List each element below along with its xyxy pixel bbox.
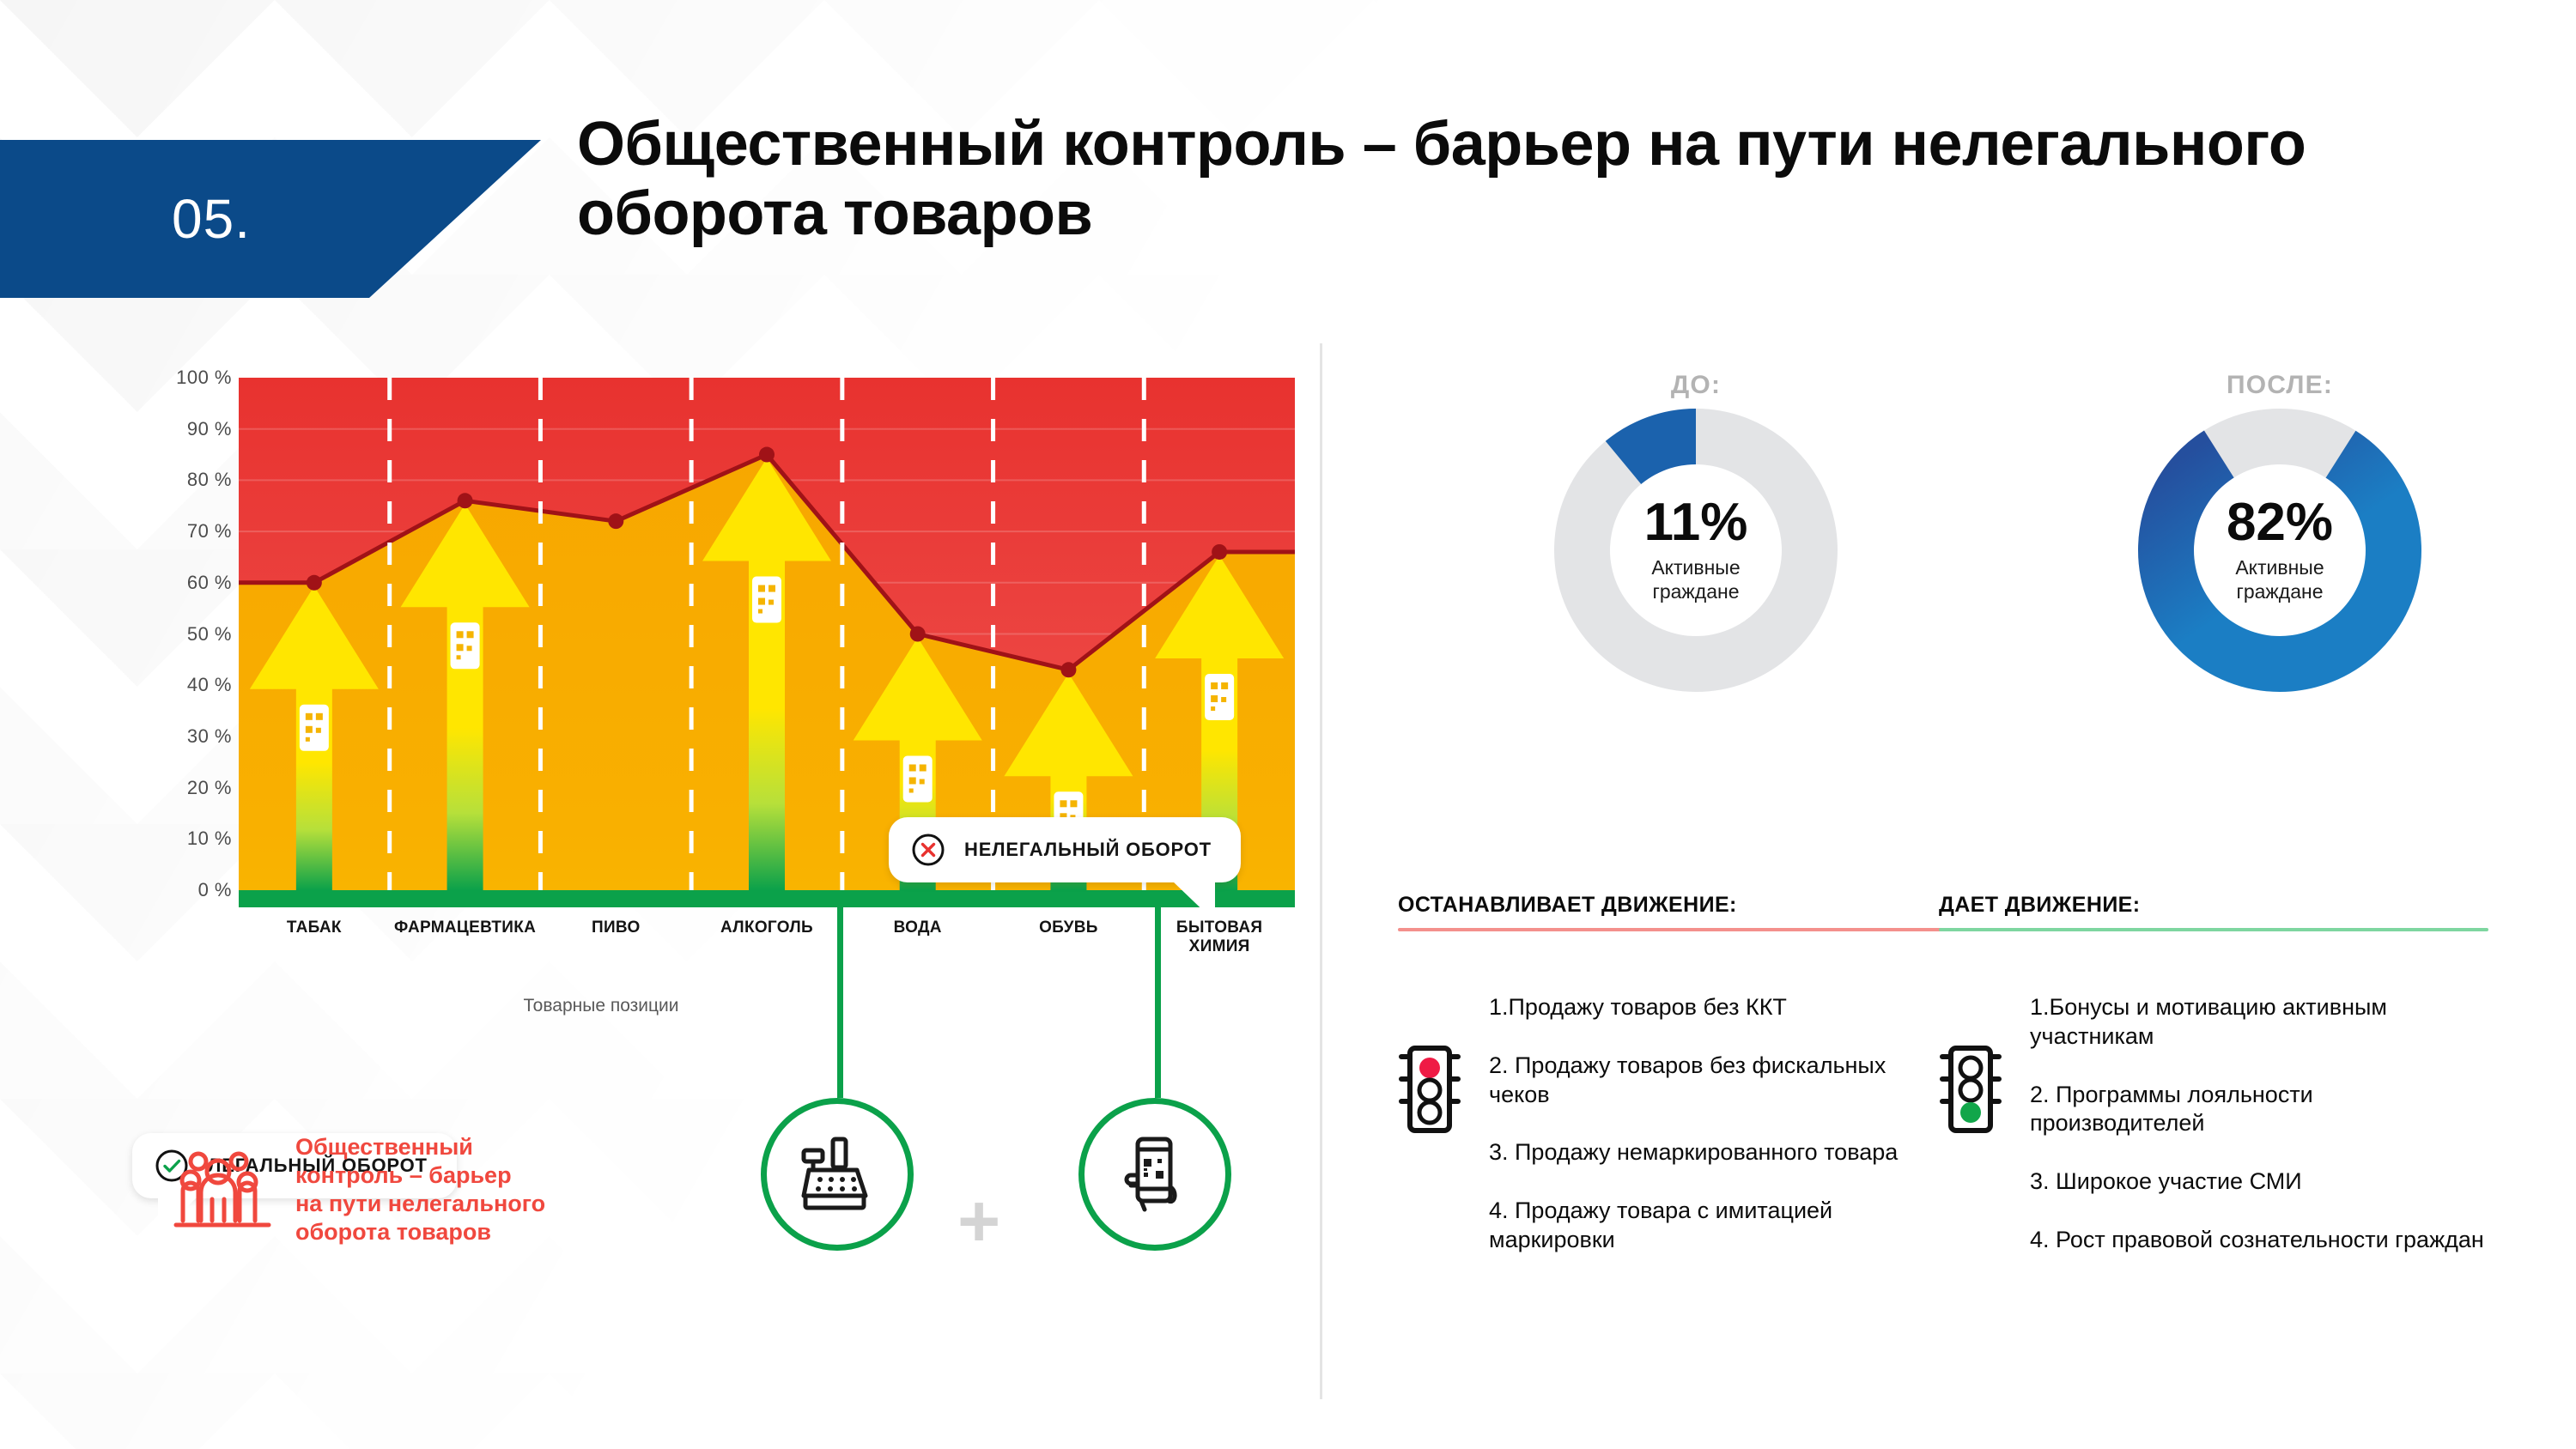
data-point bbox=[1212, 544, 1227, 560]
data-point bbox=[910, 627, 926, 642]
data-point bbox=[458, 493, 473, 508]
cash-register-circle bbox=[761, 1098, 914, 1251]
traffic-light-red-icon bbox=[1398, 1045, 1463, 1134]
donut-before-title: ДО: bbox=[1494, 371, 1898, 400]
datamatrix-tag-icon bbox=[903, 756, 933, 803]
list-gives-heading: ДАЕТ ДВИЖЕНИЕ: bbox=[1939, 893, 2488, 918]
donut-before-caption: Активные граждане bbox=[1651, 556, 1740, 603]
donut-before-percent: 11% bbox=[1644, 496, 1748, 549]
donut-before: ДО: 11% Активные граждане bbox=[1494, 371, 1898, 692]
list-item: 4. Продажу товара с имитацией маркировки bbox=[1489, 1197, 1947, 1255]
x-axis-label: ОБУВЬ bbox=[998, 919, 1140, 937]
data-point bbox=[759, 447, 775, 463]
logo-line-4: оборота товаров bbox=[295, 1218, 545, 1246]
y-axis-tick: 90 % bbox=[146, 418, 232, 440]
list-item: 1.Бонусы и мотивацию активным участникам bbox=[2030, 993, 2488, 1052]
list-gives-items: 1.Бонусы и мотивацию активным участникам… bbox=[2030, 971, 2488, 1255]
logo-line-2: контроль – барьер bbox=[295, 1161, 545, 1190]
y-axis-tick: 20 % bbox=[146, 777, 232, 799]
donut-after-center: 82% Активные граждане bbox=[2194, 464, 2366, 636]
donut-after: ПОСЛЕ: 82% Активные граждане bbox=[2078, 371, 2482, 692]
section-number: 05. bbox=[172, 187, 251, 251]
page-title: Общественный контроль – барьер на пути н… bbox=[577, 110, 2449, 250]
chart-svg bbox=[239, 378, 1295, 890]
turnover-chart: 0 %10 %20 %30 %40 %50 %60 %70 %80 %90 %1… bbox=[0, 378, 1314, 996]
x-axis bbox=[239, 890, 1295, 907]
data-point bbox=[307, 575, 322, 591]
connector-line-right bbox=[1155, 907, 1161, 1098]
datamatrix-tag-icon bbox=[1205, 674, 1234, 720]
x-axis-label: ФАРМАЦЕВТИКА bbox=[394, 919, 537, 937]
y-axis-tick: 80 % bbox=[146, 469, 232, 491]
x-axis-label: АЛКОГОЛЬ bbox=[696, 919, 838, 937]
x-axis-label: БЫТОВАЯ ХИМИЯ bbox=[1148, 919, 1291, 956]
donut-after-caption: Активные граждане bbox=[2235, 556, 2324, 603]
data-point bbox=[1060, 662, 1076, 677]
y-axis-tick: 10 % bbox=[146, 828, 232, 850]
x-axis-label: ПИВО bbox=[544, 919, 687, 937]
y-axis-tick: 50 % bbox=[146, 623, 232, 646]
list-item: 4. Рост правовой сознательности граждан bbox=[2030, 1226, 2488, 1255]
list-gives-movement: ДАЕТ ДВИЖЕНИЕ: 1.Бонусы и мотивацию акти… bbox=[1939, 893, 2488, 1255]
legend-illegal-label: НЕЛЕГАЛЬНЫЙ ОБОРОТ bbox=[964, 839, 1212, 861]
traffic-light-green-icon bbox=[1939, 1045, 2004, 1134]
y-axis-tick: 100 % bbox=[146, 367, 232, 389]
cross-circle-icon bbox=[911, 833, 945, 867]
list-item: 2. Продажу товаров без фискальных чеков bbox=[1489, 1052, 1947, 1110]
donut-after-percent: 82% bbox=[2227, 496, 2333, 549]
list-stops-movement: ОСТАНАВЛИВАЕТ ДВИЖЕНИЕ: 1.Продажу товаро… bbox=[1398, 893, 1947, 1255]
donut-after-title: ПОСЛЕ: bbox=[2078, 371, 2482, 400]
list-stops-rule bbox=[1398, 928, 1947, 931]
vertical-divider bbox=[1320, 343, 1322, 1399]
x-axis-title: Товарные позиции bbox=[523, 996, 678, 1016]
legend-illegal-turnover: НЕЛЕГАЛЬНЫЙ ОБОРОТ bbox=[889, 817, 1241, 882]
list-item: 1.Продажу товаров без ККТ bbox=[1489, 993, 1947, 1022]
datamatrix-tag-icon bbox=[752, 577, 781, 623]
list-item: 3. Продажу немаркированного товара bbox=[1489, 1138, 1947, 1167]
donut-after-ring: 82% Активные граждане bbox=[2138, 409, 2421, 692]
y-axis: 0 %10 %20 %30 %40 %50 %60 %70 %80 %90 %1… bbox=[146, 378, 232, 919]
list-stops-heading: ОСТАНАВЛИВАЕТ ДВИЖЕНИЕ: bbox=[1398, 893, 1947, 918]
y-axis-tick: 40 % bbox=[146, 674, 232, 696]
plus-icon: + bbox=[957, 1185, 1000, 1258]
phone-scan-icon bbox=[1115, 1132, 1194, 1216]
x-axis-label: ВОДА bbox=[847, 919, 989, 937]
phone-scan-circle bbox=[1078, 1098, 1231, 1251]
donut-before-caption-1: Активные bbox=[1651, 556, 1740, 580]
x-axis-label: ТАБАК bbox=[243, 919, 386, 937]
donut-before-center: 11% Активные граждане bbox=[1610, 464, 1782, 636]
list-item: 2. Программы лояльности производителей bbox=[2030, 1081, 2488, 1139]
list-item: 3. Широкое участие СМИ bbox=[2030, 1167, 2488, 1197]
campaign-logo: Общественный контроль – барьер на пути н… bbox=[172, 1133, 545, 1246]
list-gives-rule bbox=[1939, 928, 2488, 931]
donut-after-caption-1: Активные bbox=[2235, 556, 2324, 580]
logo-line-1: Общественный bbox=[295, 1133, 545, 1161]
data-point bbox=[608, 513, 623, 529]
donut-after-caption-2: граждане bbox=[2235, 580, 2324, 604]
y-axis-tick: 0 % bbox=[146, 879, 232, 901]
logo-line-3: на пути нелегального bbox=[295, 1190, 545, 1218]
plot-area bbox=[239, 378, 1295, 890]
list-stops-items: 1.Продажу товаров без ККТ2. Продажу това… bbox=[1489, 971, 1947, 1255]
campaign-logo-text: Общественный контроль – барьер на пути н… bbox=[295, 1133, 545, 1246]
donut-before-ring: 11% Активные граждане bbox=[1554, 409, 1838, 692]
datamatrix-tag-icon bbox=[451, 622, 480, 669]
y-axis-tick: 60 % bbox=[146, 572, 232, 594]
cash-register-icon bbox=[795, 1132, 879, 1216]
datamatrix-tag-icon bbox=[300, 705, 329, 751]
y-axis-tick: 70 % bbox=[146, 520, 232, 543]
people-group-icon bbox=[172, 1139, 273, 1240]
y-axis-tick: 30 % bbox=[146, 725, 232, 748]
connector-line-left bbox=[837, 907, 843, 1098]
donut-before-caption-2: граждане bbox=[1651, 580, 1740, 604]
